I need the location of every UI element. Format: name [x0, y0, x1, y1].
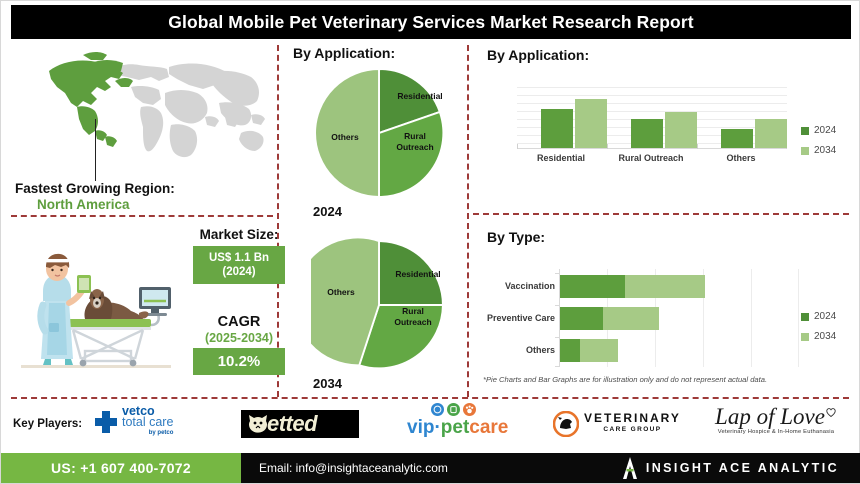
pie-section-title: By Application:: [293, 45, 395, 61]
map-leader-line: [95, 119, 96, 181]
bar-xlabel-residential: Residential: [511, 153, 611, 163]
footer-brand: INSIGHT ACE ANALYTIC: [622, 457, 839, 479]
type-ylabel-preventive-care: Preventive Care: [463, 313, 555, 323]
heart-icon: [825, 406, 837, 418]
type-ylabel-vaccination: Vaccination: [463, 281, 555, 291]
shield-badge-icon: [447, 403, 460, 416]
bar-chart-title: By Application:: [487, 47, 589, 63]
legend-swatch-2024: [801, 127, 809, 135]
bar-rural-2024: [631, 119, 663, 148]
bar-xlabel-rural-outreach: Rural Outreach: [601, 153, 701, 163]
pie-2024-label-residential: Residential: [389, 91, 451, 102]
type-legend-item-2034: 2034: [801, 331, 836, 342]
type-bar-vaccination-2024: [560, 275, 625, 298]
veterinarian-illustration: [13, 247, 193, 377]
divider-horizontal-bottom: [11, 397, 849, 399]
type-chart-tick: [555, 273, 559, 274]
globe-badge-icon: [431, 403, 444, 416]
type-legend-item-2024: 2024: [801, 311, 836, 322]
logo-vip-petcare: vip·petcare: [407, 403, 527, 441]
bar-group-rural-outreach: [631, 112, 697, 148]
logo-vetted: etted: [241, 410, 359, 438]
logo-vip-part3: care: [469, 417, 508, 438]
type-chart-legend: 2024 2034: [801, 311, 836, 351]
footer-email[interactable]: Email: info@insightaceanalytic.com: [259, 461, 448, 475]
type-bar-preventive-2034: [603, 307, 659, 330]
type-bar-others: [560, 339, 618, 362]
logo-vetted-text: etted: [267, 411, 317, 437]
pie-2034-label-residential: Residential: [387, 269, 449, 280]
bar-chart-by-application: Residential Rural Outreach Others: [517, 87, 787, 149]
pie-chart-2034: [311, 237, 447, 373]
legend-item-2034: 2034: [801, 145, 836, 156]
divider-horizontal-left: [11, 215, 273, 217]
type-chart-gridline: [798, 269, 799, 367]
type-chart-tick: [555, 305, 559, 306]
bar-chart-tick: [697, 144, 698, 149]
type-bar-vaccination: [560, 275, 705, 298]
cagr-value: 10.2%: [218, 353, 261, 370]
fastest-growing-region-label: Fastest Growing Region:: [15, 181, 175, 196]
logo-vetco-line3: by petco: [122, 428, 173, 439]
market-size-year: (2024): [222, 265, 255, 279]
logo-veterinary-care-group: VETERINARY CARE GROUP: [553, 411, 693, 437]
logo-lap-of-love: Lap of Love Veterinary Hospice & In-Home…: [701, 405, 851, 441]
legend-item-2024: 2024: [801, 125, 836, 136]
type-chart-tick: [555, 337, 559, 338]
bar-chart-x-axis: [517, 148, 787, 149]
footer-phone[interactable]: US: +1 607 400-7072: [51, 460, 191, 476]
footer-contact-block: Email: info@insightaceanalytic.com INSIG…: [241, 453, 860, 483]
logo-lap-of-love-name: Lap of Love: [715, 405, 825, 428]
bar-rural-2034: [665, 112, 697, 148]
legend-label-2034: 2034: [814, 145, 836, 156]
pie-2024-label-others: Others: [323, 132, 367, 143]
type-chart-tick: [555, 366, 559, 367]
world-map: [19, 47, 271, 175]
cagr-title: CAGR: [187, 314, 291, 330]
type-chart-gridline: [751, 269, 752, 367]
market-size-value: US$ 1.1 Bn: [209, 251, 269, 265]
cagr-years: (2025-2034): [187, 331, 291, 345]
pie-2034-label-others: Others: [319, 287, 363, 298]
type-bar-others-2034: [580, 339, 618, 362]
type-bar-others-2024: [560, 339, 580, 362]
market-size-title: Market Size:: [187, 227, 291, 242]
cat-face-icon: [247, 414, 269, 434]
insight-ace-logo-icon: [622, 457, 638, 479]
bar-group-residential: [541, 99, 607, 148]
chart-disclaimer-note: *Pie Charts and Bar Graphs are for illus…: [483, 375, 767, 384]
page-title-bar: Global Mobile Pet Veterinary Services Ma…: [11, 5, 851, 39]
market-size-box: US$ 1.1 Bn (2024): [193, 246, 285, 284]
type-bar-preventive-2024: [560, 307, 603, 330]
logo-vcg-line2: CARE GROUP: [584, 424, 681, 435]
page-title: Global Mobile Pet Veterinary Services Ma…: [168, 12, 693, 33]
bar-chart-tick: [517, 144, 518, 149]
north-america-highlight: [49, 52, 133, 147]
paw-badge-icon: [463, 403, 476, 416]
type-legend-swatch-2024: [801, 313, 809, 321]
type-bar-vaccination-2034: [625, 275, 705, 298]
dog-circle-icon: [553, 411, 579, 437]
infographic-page: Global Mobile Pet Veterinary Services Ma…: [0, 0, 860, 484]
type-legend-label-2034: 2034: [814, 331, 836, 342]
footer-bar: US: +1 607 400-7072 Email: info@insighta…: [1, 453, 860, 483]
logo-vip-part1: vip: [407, 417, 434, 438]
key-players-label: Key Players:: [13, 418, 82, 430]
logo-vetco-total-care: vetco total care by petco: [93, 405, 223, 439]
divider-horizontal-right: [473, 213, 849, 215]
logo-vcg-line1: VETERINARY: [584, 413, 681, 424]
pie-2024-year: 2024: [313, 204, 342, 219]
type-bar-preventive-care: [560, 307, 659, 330]
bar-group-others: [721, 119, 787, 148]
bar-others-2034: [755, 119, 787, 148]
pie-2034-label-rural: RuralOutreach: [387, 306, 439, 328]
legend-label-2024: 2024: [814, 125, 836, 136]
cagr-box: 10.2%: [193, 348, 285, 375]
logo-vip-part2: pet: [441, 417, 470, 438]
footer-brand-name: INSIGHT ACE ANALYTIC: [646, 461, 839, 475]
bar-others-2024: [721, 129, 753, 148]
bar-residential-2034: [575, 99, 607, 148]
legend-swatch-2034: [801, 147, 809, 155]
type-ylabel-others: Others: [463, 345, 555, 355]
logo-vetco-line2: total care: [122, 417, 173, 428]
bar-xlabel-others: Others: [691, 153, 791, 163]
pie-2034-year: 2034: [313, 376, 342, 391]
pie-2024-label-rural: RuralOutreach: [389, 131, 441, 153]
bar-chart-legend: 2024 2034: [801, 125, 836, 165]
logo-lap-of-love-tagline: Veterinary Hospice & In-Home Euthanasia: [718, 429, 834, 435]
cross-icon: [93, 409, 119, 435]
type-chart-title: By Type:: [487, 229, 545, 245]
bar-residential-2024: [541, 109, 573, 148]
fastest-growing-region-value: North America: [37, 197, 130, 212]
type-legend-label-2024: 2024: [814, 311, 836, 322]
type-legend-swatch-2034: [801, 333, 809, 341]
bar-chart-tick: [607, 144, 608, 149]
bar-chart-by-type: Vaccination Preventive Care Others: [559, 269, 799, 367]
footer-phone-block: US: +1 607 400-7072: [1, 453, 241, 483]
